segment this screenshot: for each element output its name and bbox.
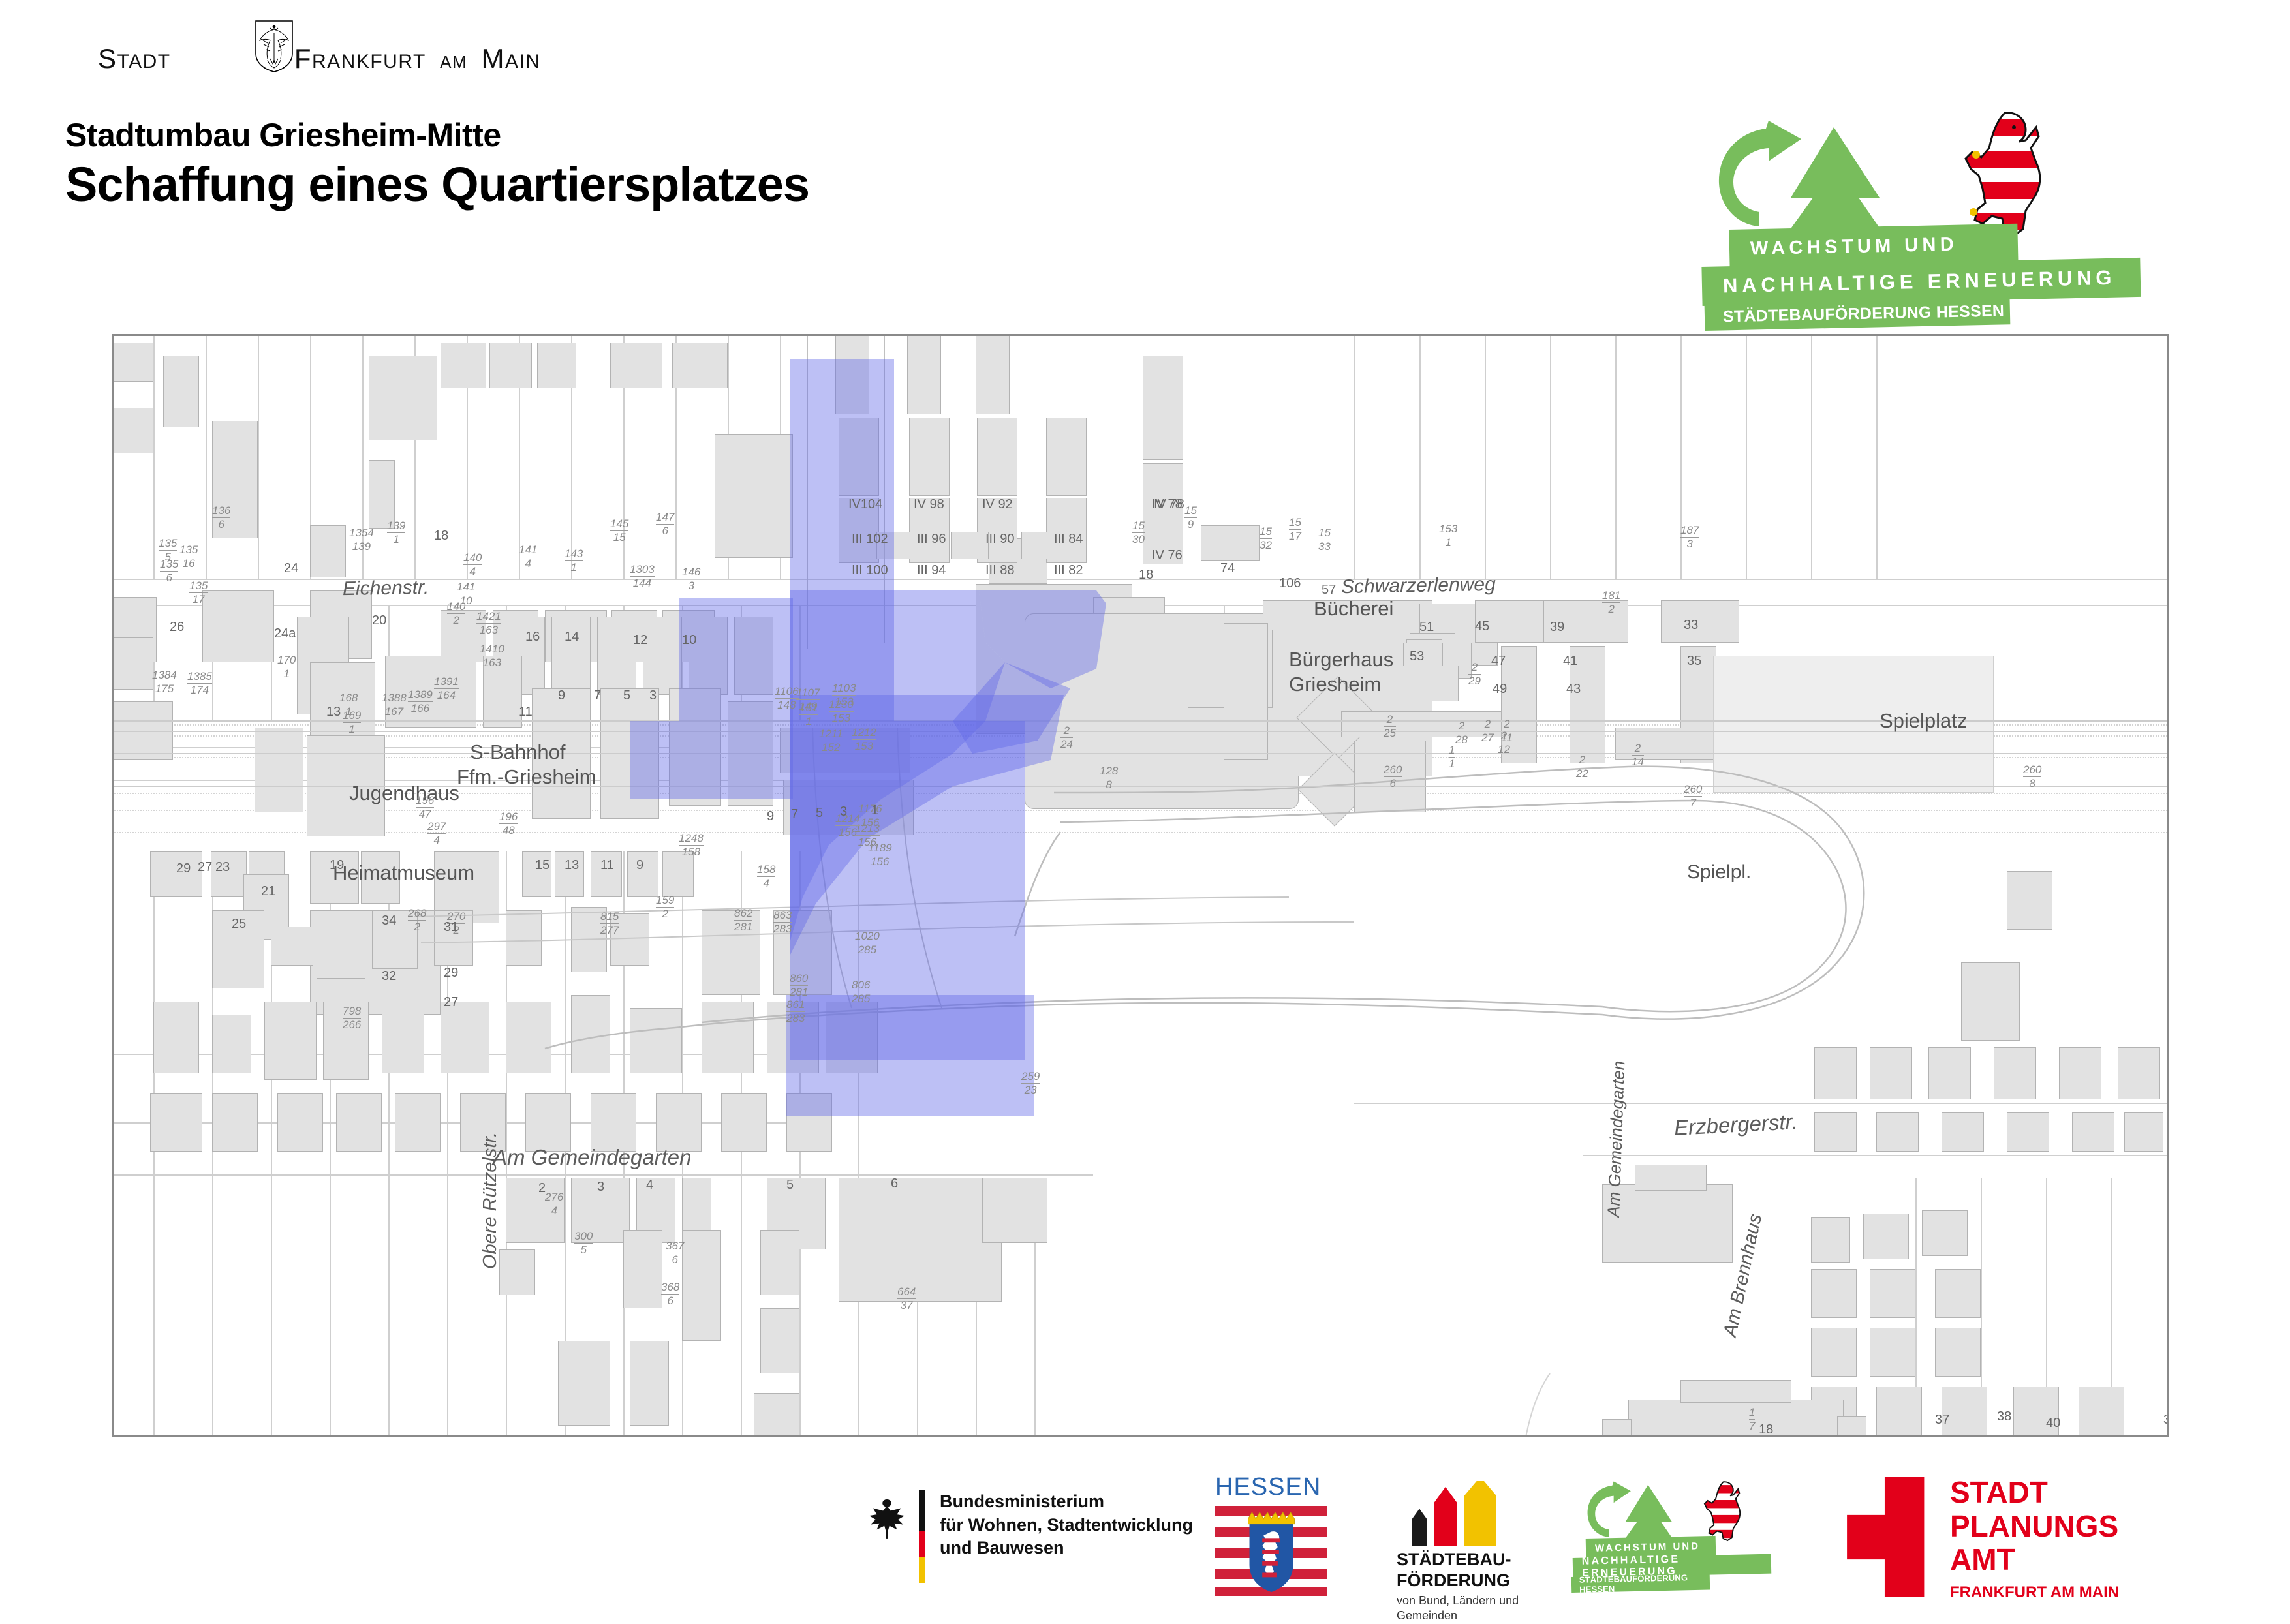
house-number: 41 <box>1563 654 1577 669</box>
house-number: 14 <box>565 630 579 645</box>
parcel-number: 1391164 <box>434 675 459 702</box>
parcel-number: 2682 <box>408 907 426 934</box>
house-number: 29 <box>176 861 191 876</box>
parcel-number: 66437 <box>897 1285 916 1312</box>
parcel-number: 861283 <box>786 998 805 1025</box>
house-number: 24a <box>274 626 296 641</box>
parcel-number: 1107149 <box>796 686 820 713</box>
bmwsb-line2: für Wohnen, Stadtentwicklung <box>940 1514 1193 1537</box>
logo-hessen: HESSEN <box>1215 1473 1333 1597</box>
parcel-number: 225 <box>1384 713 1396 740</box>
house-number: 11 <box>519 705 533 720</box>
map-canvas: Eichenstr. Schwarzerlenweg Am Gemeindega… <box>114 336 2167 1435</box>
house-number: 39 <box>1550 620 1564 635</box>
place-label-ffm-griesheim: Ffm.-Griesheim <box>457 765 596 789</box>
place-label-spielplatz: Spielplatz <box>1880 709 1967 733</box>
parcel-number: 1532 <box>1260 525 1272 552</box>
place-label-s-bahnhof: S-Bahnhof <box>470 741 566 764</box>
parcel-number: 13516 <box>179 544 198 570</box>
flag-red <box>919 1531 925 1557</box>
house-number: 18 <box>1759 1422 1773 1437</box>
parcel-number: 3686 <box>661 1281 679 1308</box>
house-number: 3 <box>649 688 657 703</box>
parcel-number: 11 <box>1449 744 1455 771</box>
parcel-number: 1189156 <box>868 842 892 868</box>
house-number: IV 76 <box>1152 548 1183 563</box>
spa-line3: AMT <box>1950 1543 2118 1577</box>
house-number: 18 <box>1139 568 1153 583</box>
house-number: 20 <box>372 613 386 628</box>
house-number: IV104 <box>848 497 882 512</box>
parcel-number: 228 <box>1455 720 1468 746</box>
parcel-number: 214 <box>1632 742 1644 769</box>
parcel-number: 863283 <box>773 909 792 936</box>
house-number: III 100 <box>852 563 888 578</box>
flag-black <box>919 1490 925 1531</box>
parcel-number: 1517 <box>1289 516 1301 543</box>
house-number: 23 <box>215 860 230 875</box>
house-number: III 94 <box>917 563 946 578</box>
house-number: 13 <box>565 858 579 873</box>
house-number: III 90 <box>985 532 1014 547</box>
parcel-number: 1385174 <box>187 670 212 697</box>
house-number: 31 <box>444 920 458 935</box>
parcel-number: 1463 <box>682 566 700 592</box>
spa-line1: STADT <box>1950 1476 2118 1510</box>
parcel-number: 1531 <box>1439 523 1457 549</box>
street-label-obere-ruetzelstr: Obere Rützelstr. <box>480 1132 501 1269</box>
parcel-number: 1212153 <box>852 726 876 753</box>
house-number: 5 <box>623 688 630 703</box>
house-number: 106 <box>1279 576 1301 591</box>
house-number: III 88 <box>985 563 1014 578</box>
house-number: 6 <box>891 1176 898 1191</box>
parcel-number: 806285 <box>852 979 870 1005</box>
bmwsb-line1: Bundesministerium <box>940 1490 1193 1514</box>
logo-staedtebaufoerderung: STÄDTEBAU- FÖRDERUNG von Bund, Ländern u… <box>1390 1481 1553 1599</box>
house-number: 12 <box>633 633 647 648</box>
house-number: 33 <box>1684 618 1698 633</box>
house-number: 2 <box>538 1181 546 1196</box>
place-label-spielpl: Spielpl. <box>1687 861 1751 883</box>
house-number: 13 <box>326 705 341 720</box>
cadastral-map[interactable]: Eichenstr. Schwarzerlenweg Am Gemeindega… <box>112 334 2169 1437</box>
house-number: 25 <box>232 917 246 932</box>
parcel-number: 1230153 <box>829 698 854 725</box>
bundesadler-icon <box>868 1495 906 1540</box>
parcel-number: 229 <box>1468 661 1481 688</box>
house-number: 27 <box>444 995 458 1010</box>
house-number: 35 <box>1687 654 1701 669</box>
parcel-number: 1356 <box>160 558 178 585</box>
highlight-area-south <box>786 995 1034 1116</box>
parcel-number: 2974 <box>427 820 446 847</box>
logo-bundesministerium: Bundesministerium für Wohnen, Stadtentwi… <box>868 1486 1207 1584</box>
parcel-number: 1288 <box>1100 765 1118 791</box>
city-logo-text: STADT FRANKFURT AM MAIN <box>98 43 541 74</box>
house-number: 47 <box>1491 654 1506 669</box>
parcel-number: 1812 <box>1602 589 1620 616</box>
parcel-number: 1533 <box>1318 527 1331 553</box>
house-number: 27 <box>198 860 212 875</box>
parcel-number: 1020285 <box>855 930 880 957</box>
house-number: 45 <box>1475 619 1489 634</box>
house-number: 32 <box>382 969 396 984</box>
parcel-number: 1410163 <box>480 643 504 669</box>
parcel-number: 211 <box>1501 718 1513 744</box>
house-number: 5 <box>816 806 823 821</box>
logo-wachstum-nachhaltige-erneuerung-footer: WACHSTUM UND NACHHALTIGE ERNEUERUNG STÄD… <box>1579 1481 1795 1599</box>
house-number: 9 <box>558 688 565 703</box>
parcel-number: 1384175 <box>152 669 177 696</box>
parcel-number: 815277 <box>600 910 619 937</box>
house-number: III 82 <box>1054 563 1083 578</box>
parcel-number: 3005 <box>574 1230 593 1257</box>
house-number: 1 <box>871 803 878 818</box>
wune-footer-line3: STÄDTEBAUFÖRDERUNG HESSEN <box>1571 1574 1710 1593</box>
house-number: 15 <box>535 858 549 873</box>
place-label-buergerhaus: Bürgerhaus <box>1289 648 1393 671</box>
spa-line2: PLANUNGS <box>1950 1510 2118 1544</box>
house-number: 11 <box>600 858 614 873</box>
parcel-number: 19647 <box>416 794 434 821</box>
house-number: 21 <box>261 884 275 899</box>
parcel-number: 1303144 <box>630 563 655 590</box>
flag-gold <box>919 1557 925 1583</box>
house-number: 9 <box>636 858 643 873</box>
parcel-number: 1414 <box>519 544 537 570</box>
parcel-number: 1592 <box>656 894 674 921</box>
parcel-number: 1873 <box>1680 524 1699 551</box>
house-number: 43 <box>1566 682 1581 697</box>
staedtebau-sub2: Gemeinden <box>1397 1608 1519 1623</box>
parcel-number: 1214156 <box>835 812 860 839</box>
house-number: IV 92 <box>982 497 1013 512</box>
city-logo: STADT FRANKFURT AM MAIN <box>98 31 516 78</box>
stadtplanungsamt-mark-icon <box>1834 1477 1930 1597</box>
staedtebau-line2: FÖRDERUNG <box>1397 1570 1511 1591</box>
parcel-number: 1388167 <box>382 692 407 718</box>
parcel-number: 1354139 <box>349 527 374 553</box>
house-number: 57 <box>1322 583 1336 598</box>
staedtebau-line1: STÄDTEBAU- <box>1397 1549 1511 1570</box>
street-label-eichenstr: Eichenstr. <box>343 577 429 600</box>
house-number: III 102 <box>852 532 888 547</box>
street-label-am-gemeindegarten: Am Gemeindegarten <box>493 1145 692 1170</box>
parcel-number: 1701 <box>277 654 296 681</box>
spa-line4: FRANKFURT AM MAIN <box>1950 1584 2119 1602</box>
house-number: 38 <box>1997 1409 2011 1424</box>
parcel-number: 2608 <box>2023 763 2041 790</box>
parcel-number: 1211152 <box>819 728 843 754</box>
staedtebau-houses-icon <box>1397 1481 1508 1546</box>
program-logo-line3: STÄDTEBAUFÖRDERUNG HESSEN <box>1705 297 2011 331</box>
house-number: IV 98 <box>914 497 944 512</box>
hessen-wordmark: HESSEN <box>1215 1473 1321 1501</box>
place-label-griesheim: Griesheim <box>1289 673 1381 696</box>
parcel-number: 13517 <box>189 579 208 606</box>
bmwsb-line3: und Bauwesen <box>940 1537 1193 1560</box>
street-label-schwarzerlenweg: Schwarzerlenweg <box>1341 574 1496 598</box>
parcel-number: 159 <box>1184 504 1197 531</box>
hessen-coat-of-arms-icon <box>1215 1506 1327 1596</box>
parcel-number: 1691 <box>343 709 361 736</box>
parcel-number: 1366 <box>212 504 230 531</box>
page-subtitle: Stadtumbau Griesheim-Mitte <box>65 116 501 154</box>
parcel-number: 1391 <box>387 519 405 546</box>
house-number: 18 <box>434 529 448 544</box>
parcel-number: 1530 <box>1132 519 1145 546</box>
house-number: 19 <box>330 858 344 873</box>
place-label-heimatmuseum: Heimatmuseum <box>333 861 474 885</box>
house-number: 7 <box>594 688 601 703</box>
logo-stadtplanungsamt: STADT PLANUNGS AMT FRANKFURT AM MAIN <box>1834 1476 2173 1600</box>
house-number: 29 <box>444 966 458 981</box>
parcel-number: 1421163 <box>476 610 501 637</box>
parcel-number: 1389166 <box>408 688 433 715</box>
page-title: Schaffung eines Quartiersplatzes <box>65 157 809 212</box>
house-number: 7 <box>791 807 798 822</box>
parcel-number: 2606 <box>1384 763 1402 790</box>
parcel-number: 25923 <box>1021 1070 1040 1097</box>
house-number: 3 <box>597 1180 604 1195</box>
house-number: 24 <box>284 561 298 576</box>
house-number: 5 <box>786 1178 794 1193</box>
place-label-jugendhaus: Jugendhaus <box>349 782 459 805</box>
parcel-number: 1584 <box>757 863 775 890</box>
house-number: 3 <box>840 804 847 820</box>
house-number: 9 <box>767 809 774 824</box>
house-number: 16 <box>525 630 540 645</box>
parcel-number: 860281 <box>790 972 808 999</box>
parcel-number: 1404 <box>463 551 482 578</box>
parcel-number: 798266 <box>343 1005 361 1032</box>
house-number: III 96 <box>917 532 946 547</box>
house-number: 49 <box>1493 682 1507 697</box>
house-number: 37 <box>1935 1413 1949 1428</box>
house-number: IV 78 <box>1154 497 1184 512</box>
staedtebau-sub1: von Bund, Ländern und <box>1397 1593 1519 1608</box>
house-number: III 84 <box>1054 532 1083 547</box>
parcel-number: 227 <box>1481 718 1494 744</box>
parcel-number: 1248158 <box>679 832 704 859</box>
house-number: 37 <box>2163 1413 2169 1428</box>
parcel-number: 3676 <box>666 1240 684 1266</box>
house-number: 34 <box>382 913 396 928</box>
house-number: 40 <box>2046 1416 2060 1431</box>
parcel-number: 1106148 <box>775 685 799 712</box>
house-number: 53 <box>1410 649 1424 664</box>
parcel-number: 14515 <box>610 517 628 544</box>
parcel-number: 224 <box>1060 724 1073 751</box>
place-label-buecherei: Bücherei <box>1314 597 1393 620</box>
parcel-number: 1431 <box>565 547 583 574</box>
house-number: 74 <box>1220 561 1235 576</box>
house-number: 4 <box>646 1178 653 1193</box>
parcel-number: 1402 <box>447 600 465 627</box>
parcel-number: 862281 <box>734 907 752 934</box>
house-number: 10 <box>682 633 696 648</box>
parcel-number: 2607 <box>1684 783 1702 810</box>
highlight-area-west-spur2 <box>630 721 793 799</box>
parcel-number: 19648 <box>499 810 518 837</box>
parcel-number: 17 <box>1749 1406 1755 1433</box>
house-number: 26 <box>170 620 184 635</box>
parcel-number: 2764 <box>545 1191 563 1218</box>
parcel-number: 1476 <box>656 511 674 538</box>
parcel-number: 222 <box>1576 754 1588 780</box>
house-number: 51 <box>1419 620 1434 635</box>
